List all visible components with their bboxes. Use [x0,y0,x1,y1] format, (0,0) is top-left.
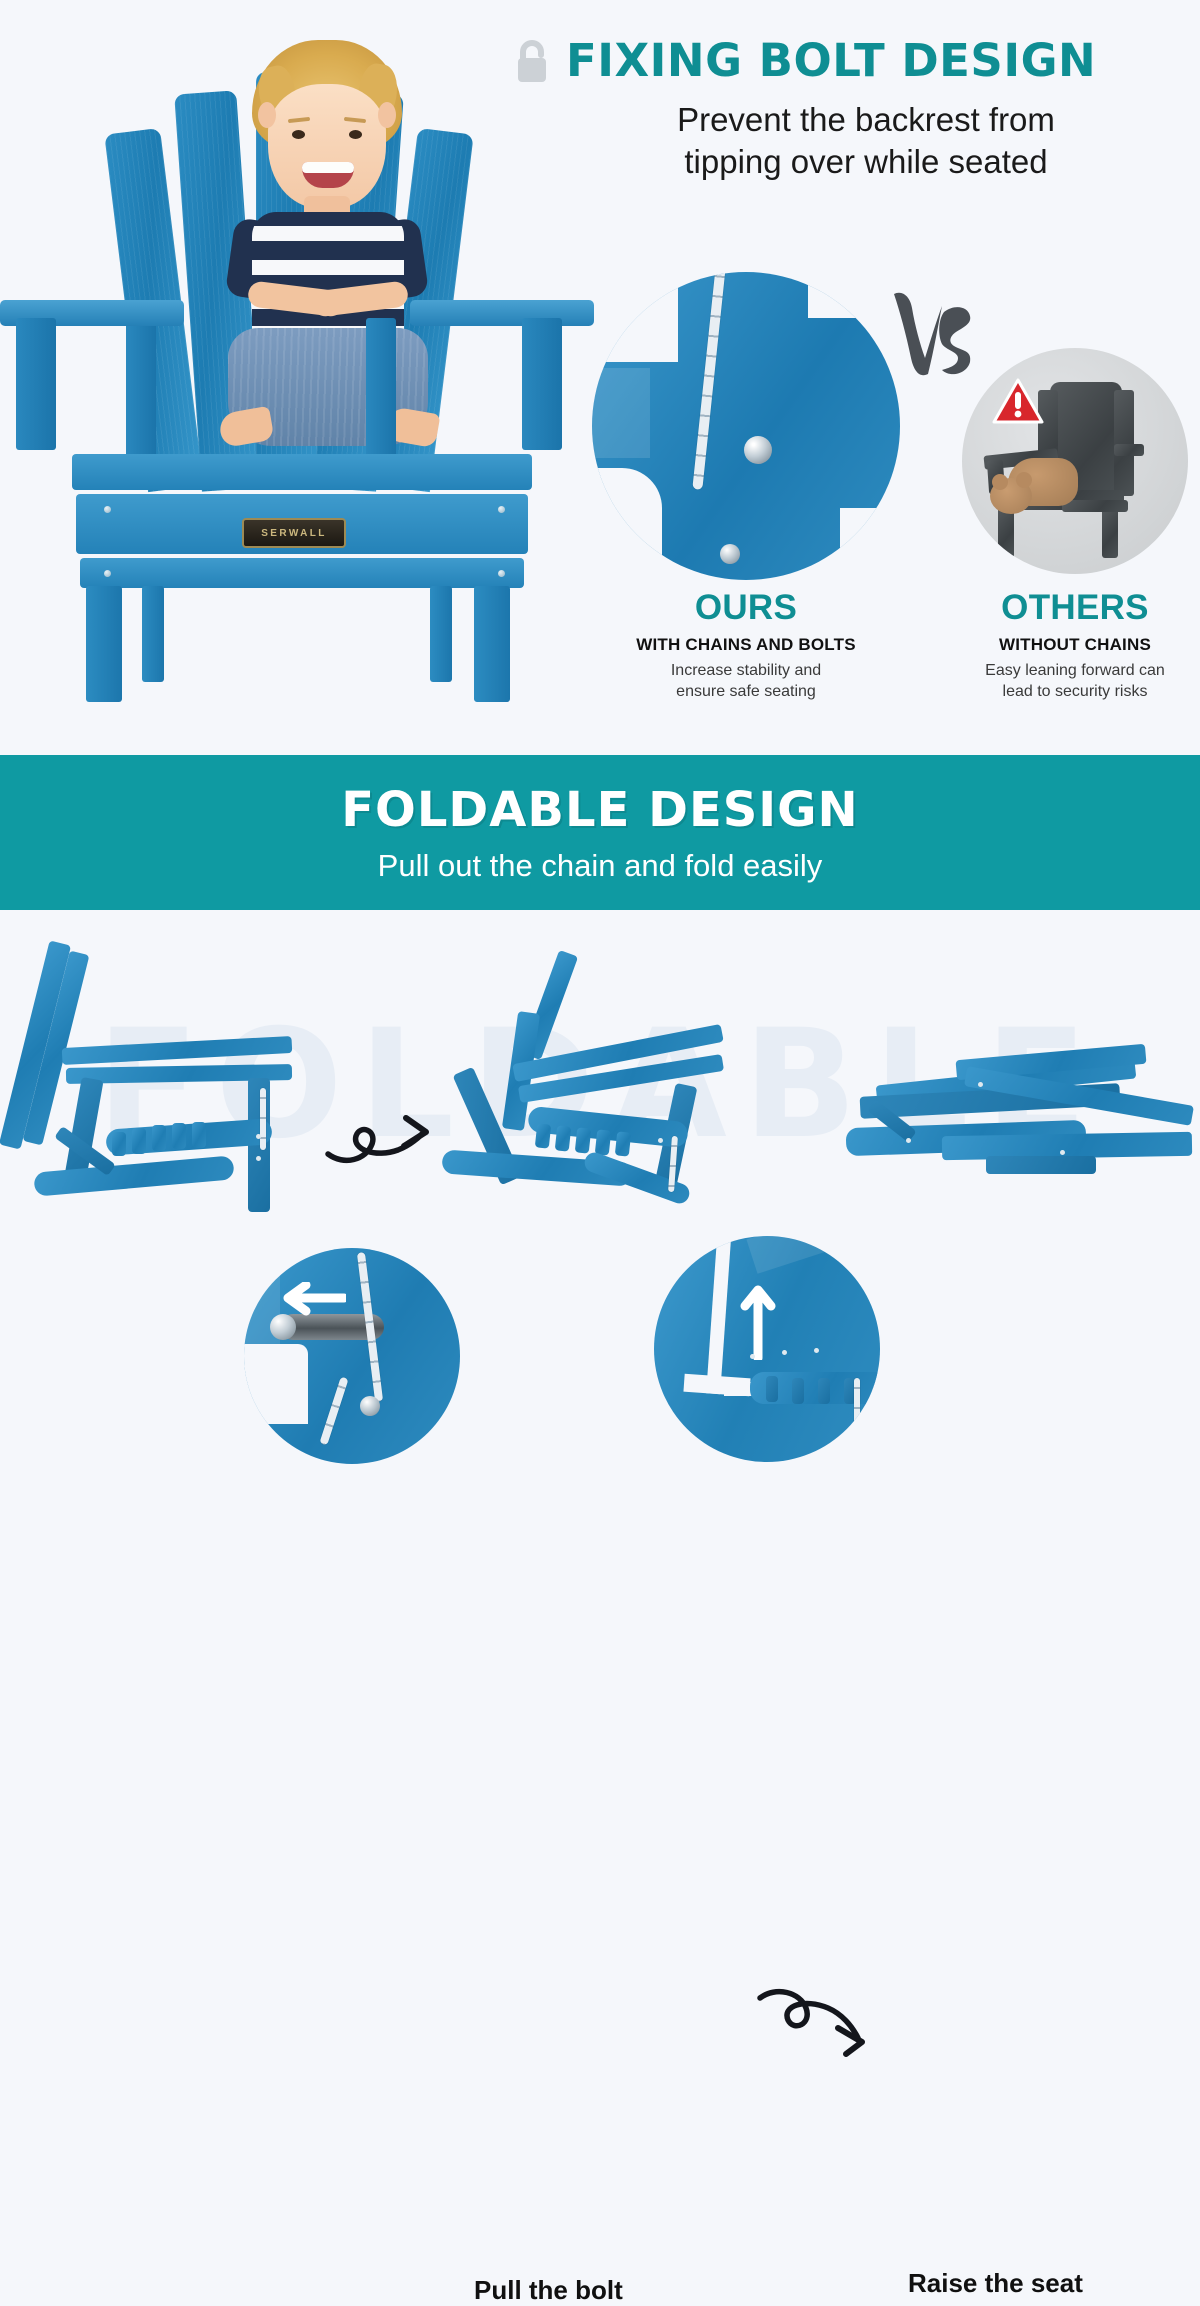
fold-step-flat [846,1038,1196,1218]
chair-arm-right [410,300,594,326]
others-desc-1: Easy leaning forward can [938,661,1200,682]
pull-bolt-detail [244,1248,460,1464]
page-title: FIXING BOLT DESIGN [566,34,1096,87]
vs-icon [888,282,974,380]
ours-desc-1: Increase stability and [596,661,896,682]
pull-bolt-caption: Pull the bolt [474,2275,623,2306]
hero-product-photo: SERWALL [0,18,524,738]
brand-plate-text: SERWALL [261,528,327,539]
arrow-up-icon [740,1282,776,1360]
fixing-bolt-section: SERWALL FIXING BOLT DESIGN Prevent the b… [0,0,1200,755]
fold-step-open [10,938,330,1238]
sequence-arrow-2-icon [756,1980,876,2058]
banner-subtitle: Pull out the chain and fold easily [378,848,823,884]
sequence-arrow-1-icon [322,1102,442,1180]
infographic-page: SERWALL FIXING BOLT DESIGN Prevent the b… [0,0,1200,1500]
raise-seat-detail [654,1236,880,1462]
subtitle-line-2: tipping over while seated [552,141,1180,183]
ours-detail-photo [592,272,900,580]
warning-icon [992,378,1044,426]
others-desc-2: lead to security risks [938,682,1200,703]
foldable-banner: FOLDABLE DESIGN Pull out the chain and f… [0,755,1200,910]
teddy-bear [990,452,1082,514]
ours-subtitle: WITH CHAINS AND BOLTS [596,635,896,655]
ours-desc-2: ensure safe seating [596,682,896,703]
fixing-bolt [744,436,772,464]
arrow-left-icon [262,1282,346,1316]
fixing-bolt-header: FIXING BOLT DESIGN Prevent the backrest … [512,34,1180,183]
fold-step-mid [432,956,772,1246]
others-detail-photo [962,348,1188,574]
others-caption: OTHERS WITHOUT CHAINS Easy leaning forwa… [938,588,1200,703]
subtitle-line-1: Prevent the backrest from [552,99,1180,141]
raise-seat-caption: Raise the seat [908,2268,1083,2299]
face [268,84,386,208]
banner-title: FOLDABLE DESIGN [341,782,858,838]
ours-caption: OURS WITH CHAINS AND BOLTS Increase stab… [596,588,896,703]
lock-icon [512,38,552,84]
ours-title: OURS [596,588,896,628]
brand-plate: SERWALL [242,518,346,548]
others-subtitle: WITHOUT CHAINS [938,635,1200,655]
others-title: OTHERS [938,588,1200,628]
safety-chain [692,272,725,490]
folding-sequence-section: FOLDABLE [0,910,1200,1500]
child-model [212,40,442,470]
